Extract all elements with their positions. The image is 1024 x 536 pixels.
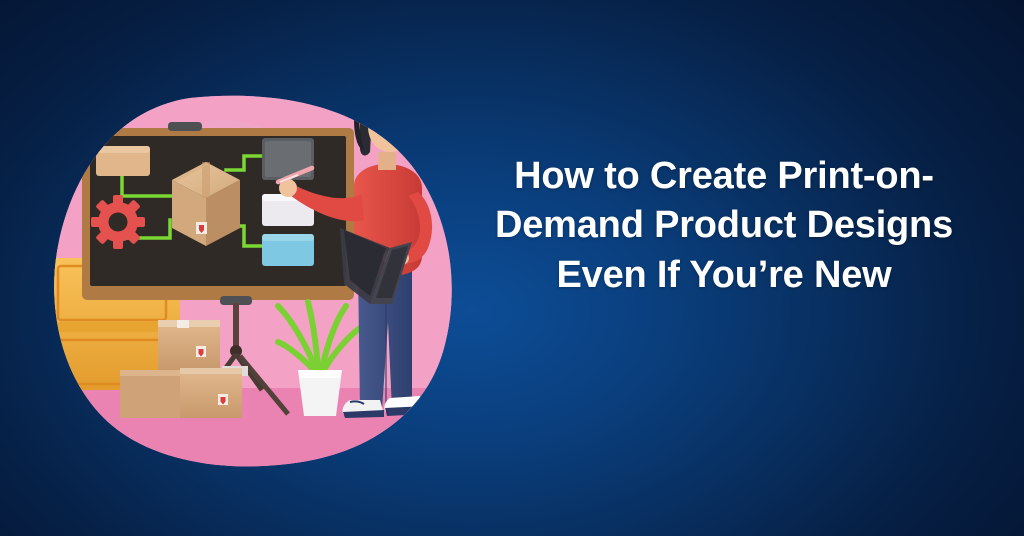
- shoe-right: [384, 396, 426, 416]
- eye-left: [377, 108, 384, 117]
- eye-right: [397, 108, 404, 117]
- node-red-gear: [91, 195, 145, 249]
- node-blue-card: [262, 234, 314, 266]
- shoe-left: [343, 400, 384, 418]
- hero-illustration: [40, 70, 470, 470]
- mouth: [382, 132, 398, 135]
- blackboard-eraser: [168, 122, 202, 131]
- page-title: How to Create Print-on-Demand Product De…: [462, 152, 986, 300]
- node-dark-card: [262, 138, 314, 180]
- node-parcel-box: [172, 162, 240, 246]
- blackboard: [82, 122, 354, 300]
- face: [368, 80, 412, 152]
- hair: [360, 74, 422, 155]
- poster-canvas: How to Create Print-on-Demand Product De…: [0, 0, 1024, 536]
- node-tan-card: [96, 146, 150, 176]
